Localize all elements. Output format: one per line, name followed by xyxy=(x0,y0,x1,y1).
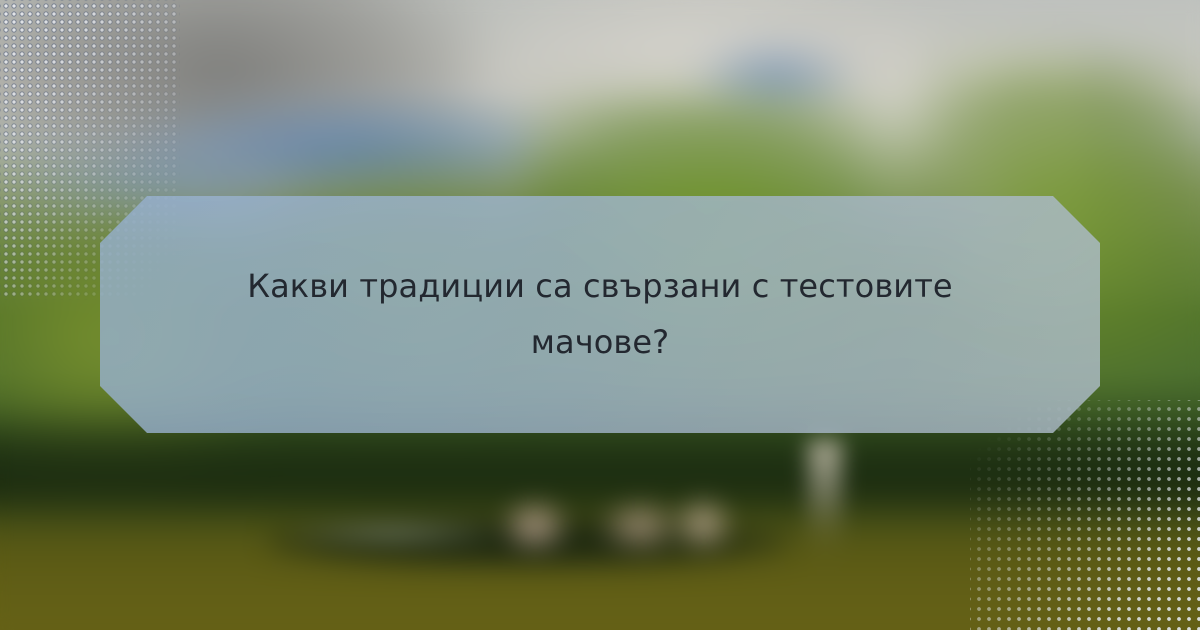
poster-canvas: Какви традиции са свързани с тестовите м… xyxy=(0,0,1200,630)
question-text: Какви традиции са свързани с тестовите м… xyxy=(240,259,960,369)
question-banner: Какви традиции са свързани с тестовите м… xyxy=(100,196,1100,433)
